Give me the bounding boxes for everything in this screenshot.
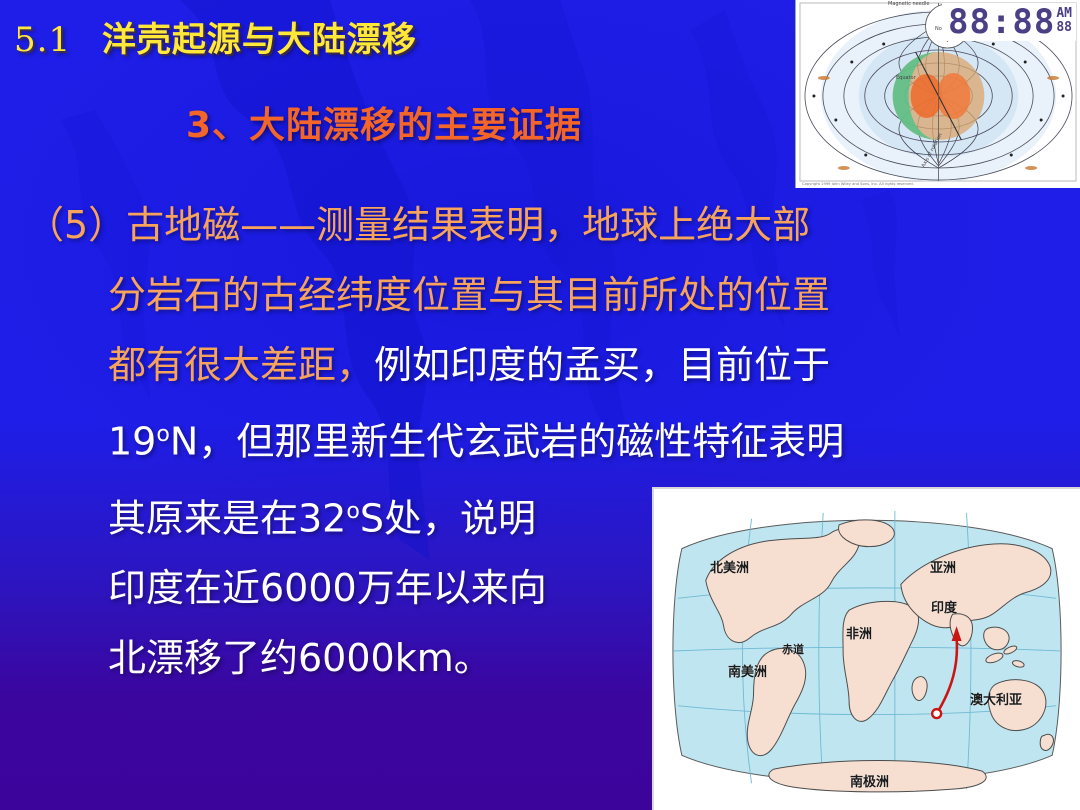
clock-seconds: 88 <box>1056 21 1072 35</box>
map-label-asia: 亚洲 <box>930 557 956 576</box>
map-label-north-america: 北美洲 <box>710 557 749 576</box>
body-line-4-segment-1: 19 <box>108 420 156 464</box>
body-line-4-segment-2: o <box>156 422 169 447</box>
map-label-africa: 非洲 <box>846 623 872 642</box>
clock-time: 88:88 <box>948 5 1055 39</box>
body-line-3-segment-2: 例如印度的孟买，目前位于 <box>374 343 830 387</box>
slide-canvas: 5.1 洋壳起源与大陆漂移 3、大陆漂移的主要证据 （5）古地磁——测量结果表明… <box>0 0 1080 810</box>
body-line-5-segment-2: o <box>346 499 359 524</box>
heading-title: 洋壳起源与大陆漂移 <box>102 20 417 60</box>
body-line-4: 19oN，但那里新生代玄武岩的磁性特征表明 <box>26 400 1056 477</box>
body-line-5-segment-3: S处，说明 <box>360 496 536 540</box>
digital-clock-overlay: 88:88 AM 88 <box>942 3 1076 41</box>
body-line-3-segment-1: 都有很大差距， <box>108 343 374 387</box>
body-line-7-segment-1: 北漂移了约6000km。 <box>108 636 492 680</box>
map-label-equator: 赤道 <box>782 641 804 657</box>
earth-magnetic-field-figure: Magnetic needle North magnetic pole Equa… <box>795 0 1080 188</box>
body-line-3: 都有很大差距，例如印度的孟买，目前位于 <box>26 330 1056 400</box>
heading-number: 5.1 <box>14 20 71 60</box>
body-line-1-segment-1: （5）古地磁——测量结果表明，地球上绝大部 <box>26 203 810 247</box>
slide-subheading: 3、大陆漂移的主要证据 <box>186 96 582 148</box>
clock-meridiem: AM <box>1056 7 1072 21</box>
body-line-1: （5）古地磁——测量结果表明，地球上绝大部 <box>26 190 1056 260</box>
map-label-antarctica: 南极洲 <box>850 771 889 790</box>
equator-label: Equator <box>896 76 916 82</box>
slide-heading: 5.1 洋壳起源与大陆漂移 <box>14 12 417 61</box>
map-label-india: 印度 <box>931 597 957 616</box>
map-label-south-america: 南美洲 <box>728 661 767 680</box>
figure-copyright: Copyright 1999 John Wiley and Sons, Inc.… <box>802 181 914 186</box>
magnetic-needle-label: Magnetic needle <box>888 2 929 8</box>
map-label-australia: 澳大利亚 <box>970 689 1022 708</box>
body-line-4-segment-3: N，但那里新生代玄武岩的磁性特征表明 <box>170 420 844 464</box>
body-line-5-segment-1: 其原来是在32 <box>108 496 346 540</box>
body-line-2-segment-1: 分岩石的古经纬度位置与其目前所处的位置 <box>108 273 830 317</box>
world-map-svg <box>654 489 1080 810</box>
body-line-6-segment-1: 印度在近6000万年以来向 <box>108 566 547 610</box>
world-map-figure: 北美洲 亚洲 印度 非洲 赤道 南美洲 澳大利亚 南极洲 <box>652 487 1080 810</box>
body-line-2: 分岩石的古经纬度位置与其目前所处的位置 <box>26 260 1056 330</box>
